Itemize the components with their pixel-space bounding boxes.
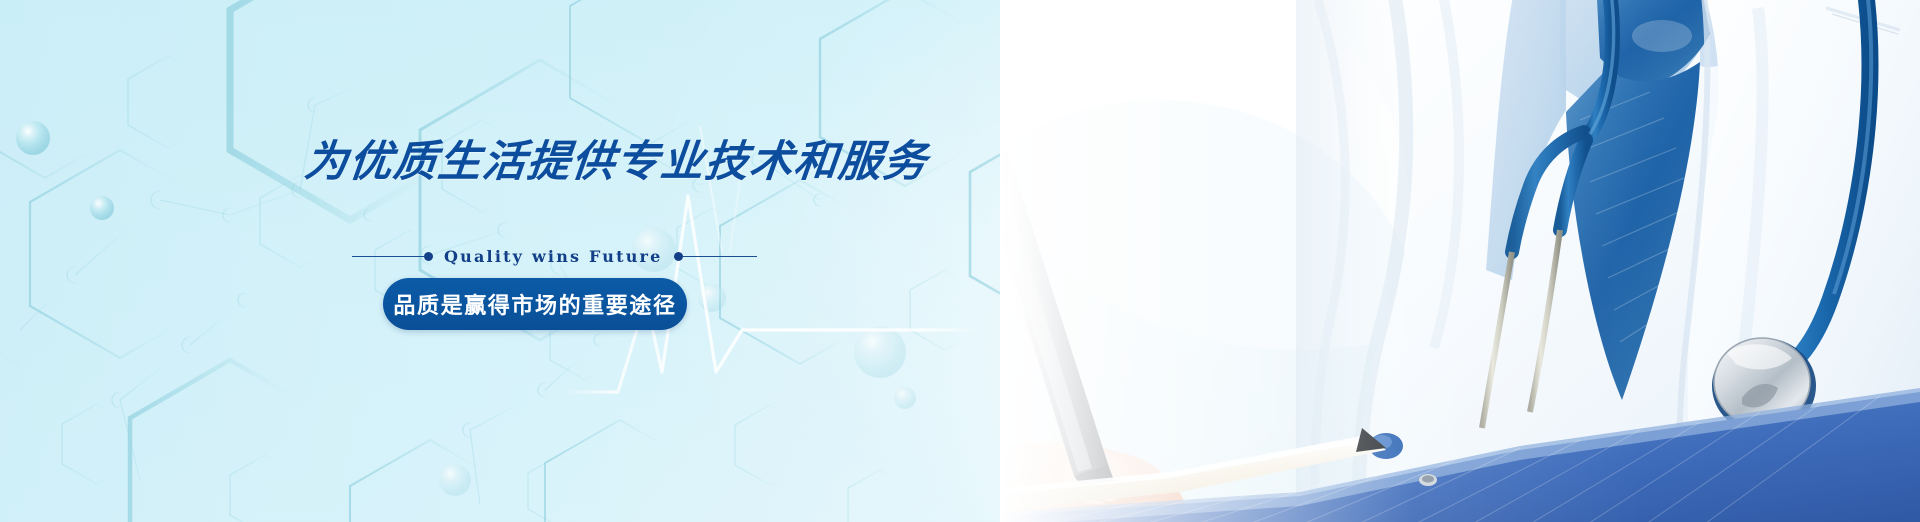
cta-button[interactable]: 品质是赢得市场的重要途径 (383, 278, 687, 330)
tagline-english: Quality wins Future (433, 247, 674, 266)
tagline-divider: Quality wins Future (352, 245, 792, 267)
page-title: 为优质生活提供专业技术和服务 (302, 127, 932, 189)
divider-dot-right (674, 252, 683, 261)
divider-line-right (683, 256, 757, 257)
divider-line-left (352, 256, 424, 257)
cta-button-label: 品质是赢得市场的重要途径 (393, 288, 676, 320)
banner-content: 为优质生活提供专业技术和服务 Quality wins Future 品质是赢得… (0, 0, 1000, 522)
divider-dot-left (424, 252, 433, 261)
medical-hero-banner: 为优质生活提供专业技术和服务 Quality wins Future 品质是赢得… (0, 0, 1920, 522)
